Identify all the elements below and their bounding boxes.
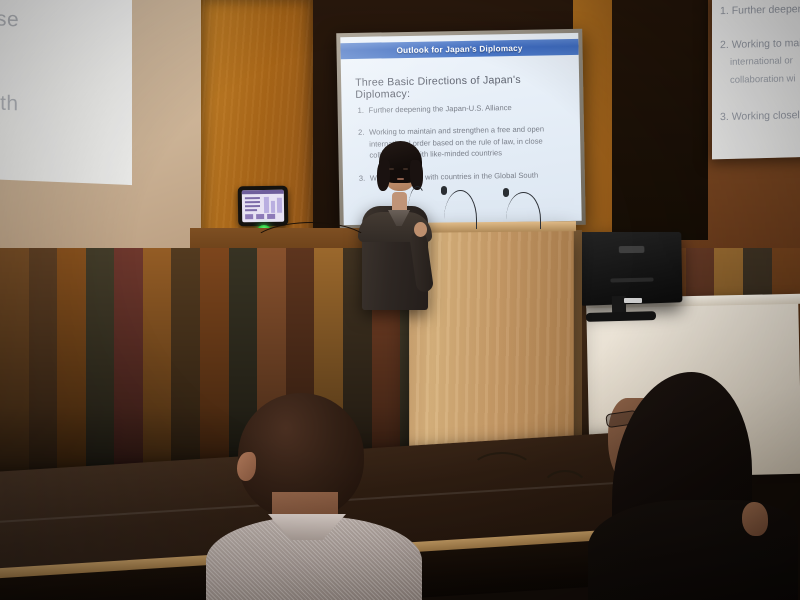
speaker-hand bbox=[414, 222, 427, 237]
av-control-panel-screen[interactable] bbox=[242, 190, 284, 223]
wall-stripe-5 bbox=[143, 248, 172, 474]
slide-heading: Three Basic Directions of Japan's Diplom… bbox=[355, 73, 570, 101]
right-screen-line-0: 1. Further deepen bbox=[720, 3, 800, 17]
right-screen-line-1: 2. Working to mai bbox=[720, 37, 800, 51]
right-line-num-4: 3. bbox=[720, 111, 729, 123]
monitor-label bbox=[624, 298, 642, 303]
slide-bullet-1: 1. Further deepening the Japan-U.S. Alli… bbox=[358, 101, 570, 116]
wall-cable bbox=[250, 222, 372, 270]
speaker-hair-left bbox=[377, 160, 390, 191]
wall-stripe-7 bbox=[200, 248, 229, 474]
left-screen-fragment-2: outh bbox=[0, 91, 18, 117]
microphone-left-head bbox=[441, 186, 447, 195]
wall-stripe-3 bbox=[86, 248, 115, 474]
right-line-num-1: 2. bbox=[720, 39, 729, 51]
right-screen-line-4: 3. Working closely bbox=[720, 109, 800, 123]
monitor-base bbox=[586, 311, 656, 322]
bullet-2-number: 2. bbox=[358, 127, 365, 139]
slide-title-bar: Outlook for Japan's Diplomacy bbox=[340, 39, 578, 59]
bullet-1-text: Further deepening the Japan-U.S. Allianc… bbox=[358, 101, 570, 116]
wall-stripe-1 bbox=[29, 248, 58, 474]
screen-recess-right bbox=[612, 0, 708, 240]
left-screen-fragment-0: open bbox=[0, 0, 26, 5]
right-screen-line-3: collaboration wi bbox=[730, 73, 795, 86]
bullet-1-number: 1. bbox=[358, 105, 365, 117]
audience-member-right-hand bbox=[742, 502, 768, 536]
floor-cable-1 bbox=[470, 452, 534, 490]
right-line-text-1: Working to mai bbox=[732, 37, 800, 51]
slide-title: Outlook for Japan's Diplomacy bbox=[396, 43, 522, 54]
bullet-3-number: 3. bbox=[359, 172, 366, 184]
left-screen-fragment-1: close bbox=[0, 6, 19, 32]
right-line-text-0: Further deepen bbox=[732, 3, 800, 17]
confidence-monitor bbox=[579, 232, 682, 306]
microphone-right-head bbox=[503, 188, 509, 197]
av-control-panel[interactable] bbox=[238, 186, 289, 227]
wall-stripe-0 bbox=[0, 248, 29, 474]
floor-cable-2 bbox=[540, 470, 590, 514]
right-projection-screen: 1. Further deepen 2. Working to mai inte… bbox=[712, 0, 800, 159]
wall-stripe-6 bbox=[171, 248, 200, 474]
wall-stripe-4 bbox=[114, 248, 143, 474]
speaker-eye-right bbox=[403, 168, 408, 170]
left-projection-screen: open close outh bbox=[0, 0, 132, 185]
presentation-room-photo: open close outh 1. Further deepen 2. Wor… bbox=[0, 0, 800, 600]
speaker-eye-left bbox=[389, 168, 394, 170]
wall-stripe-2 bbox=[57, 248, 86, 474]
speaker-mouth bbox=[397, 178, 404, 180]
right-line-text-4: Working closely bbox=[732, 109, 800, 123]
right-screen-line-2: international or bbox=[730, 55, 793, 68]
right-line-num-0: 1. bbox=[720, 5, 729, 17]
